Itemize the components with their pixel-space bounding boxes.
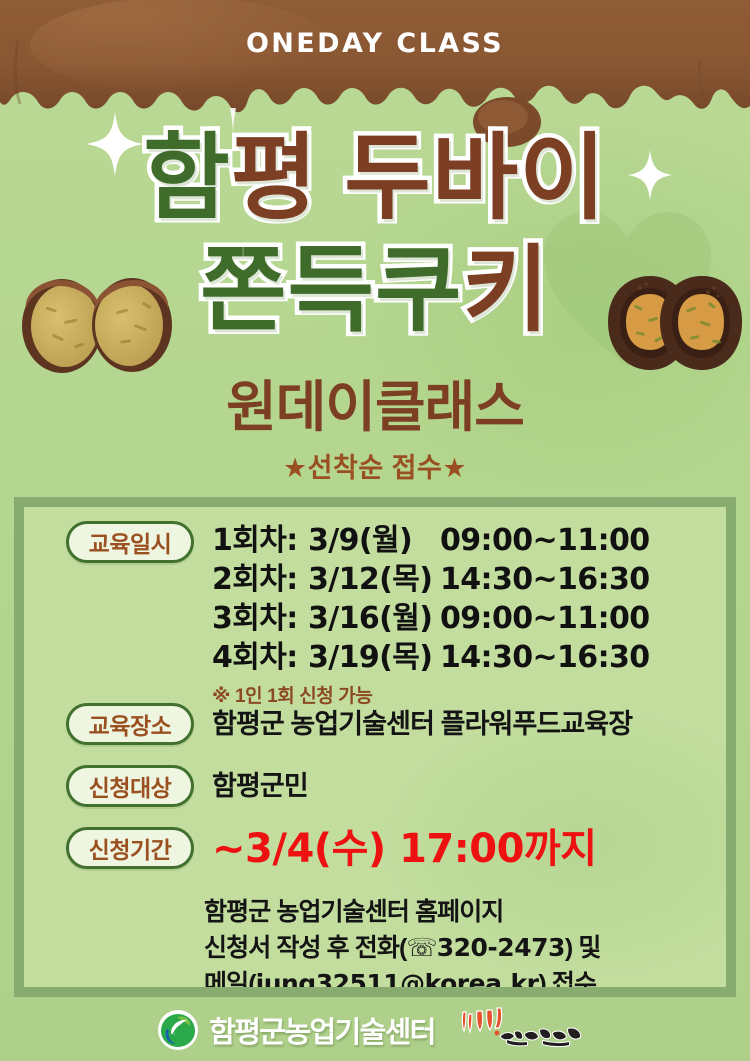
title-line-1: 함평두바이	[0, 122, 750, 234]
schedule-date: 3/12(목)	[308, 560, 440, 599]
schedule-time: 14:30~16:30	[440, 562, 650, 597]
info-row-period: 신청기간 ~3/4(수) 17:00까지	[66, 827, 597, 871]
title-char: 평	[231, 122, 318, 234]
schedule-time: 09:00~11:00	[440, 523, 650, 558]
value-deadline: ~3/4(수) 17:00까지	[212, 827, 597, 871]
info-row-target: 신청대상 함평군민	[66, 765, 308, 807]
schedule-time: 14:30~16:30	[440, 640, 650, 675]
title-char: 쿠	[375, 234, 462, 346]
contact-phone-number[interactable]: 320-2473	[437, 933, 565, 962]
title-char: 득	[288, 234, 375, 346]
contact-email-address[interactable]: jung32511@korea.kr	[256, 969, 539, 987]
contact-email-suffix: ) 접수	[538, 970, 596, 987]
contact-line-email: 메일(jung32511@korea.kr) 접수	[204, 966, 600, 987]
contact-phone-prefix: 신청서 작성 후 전화(	[204, 934, 406, 962]
label-pill-place: 교육장소	[66, 703, 194, 745]
schedule-row: 3회차:3/16(월)09:00~11:00	[212, 599, 650, 638]
poster-subtitle: 원데이클래스	[0, 362, 750, 442]
info-row-place: 교육장소 함평군 농업기술센터 플라워푸드교육장	[66, 703, 632, 745]
label-pill-period: 신청기간	[66, 827, 194, 869]
contact-line-phone: 신청서 작성 후 전화(☏320-2473) 및	[204, 930, 600, 966]
title-char: 키	[462, 234, 549, 346]
schedule-list: 1회차:3/9(월)09:00~11:00 2회차:3/12(목)14:30~1…	[212, 521, 650, 708]
contact-phone-suffix: ) 및	[565, 934, 601, 962]
schedule-row: 1회차:3/9(월)09:00~11:00	[212, 521, 650, 560]
info-row-schedule: 교육일시 1회차:3/9(월)09:00~11:00 2회차:3/12(목)14…	[66, 521, 650, 708]
title-line-2: 쫀득쿠키	[0, 234, 750, 346]
schedule-session: 3회차:	[212, 599, 308, 638]
label-pill-target: 신청대상	[66, 765, 194, 807]
schedule-session: 2회차:	[212, 560, 308, 599]
title-char: 바	[432, 122, 519, 234]
title-char: 이	[519, 122, 606, 234]
contact-line-homepage: 함평군 농업기술센터 홈페이지	[204, 895, 600, 930]
title-char: 함	[143, 122, 230, 234]
schedule-time: 09:00~11:00	[440, 601, 650, 636]
title-char: 쫀	[200, 234, 287, 346]
brand-block: 함평군농업기술센터	[157, 1009, 435, 1051]
oneday-class-header: ONEDAY CLASS	[0, 28, 750, 59]
schedule-date: 3/16(월)	[308, 599, 440, 638]
contact-email-prefix: 메일(	[204, 970, 256, 987]
value-place: 함평군 농업기술센터 플라워푸드교육장	[212, 703, 632, 745]
hampyeong-agri-logo-icon	[157, 1009, 199, 1051]
schedule-row: 4회차:3/19(목)14:30~16:30	[212, 638, 650, 677]
telephone-icon: ☏	[406, 934, 436, 962]
schedule-session: 4회차:	[212, 638, 308, 677]
footer-bar: 함평군농업기술센터	[0, 999, 750, 1061]
first-come-notice: ★선착순 접수★	[0, 446, 750, 485]
label-pill-schedule: 교육일시	[66, 521, 194, 563]
schedule-date: 3/19(목)	[308, 638, 440, 677]
value-target: 함평군민	[212, 765, 308, 807]
schedule-row: 2회차:3/12(목)14:30~16:30	[212, 560, 650, 599]
poster-title: 함평두바이 쫀득쿠키	[0, 122, 750, 346]
title-char: 두	[344, 122, 431, 234]
info-panel: 교육일시 1회차:3/9(월)09:00~11:00 2회차:3/12(목)14…	[14, 497, 736, 997]
schedule-session: 1회차:	[212, 521, 308, 560]
contact-block: 함평군 농업기술센터 홈페이지 신청서 작성 후 전화(☏320-2473) 및…	[204, 895, 600, 987]
footer-organization: 함평군농업기술센터	[209, 1009, 435, 1051]
schedule-date: 3/9(월)	[308, 521, 440, 560]
issue-gwangju-jeonnam-logo-icon	[457, 1006, 593, 1054]
poster-canvas: ONEDAY CLASS	[0, 0, 750, 1061]
